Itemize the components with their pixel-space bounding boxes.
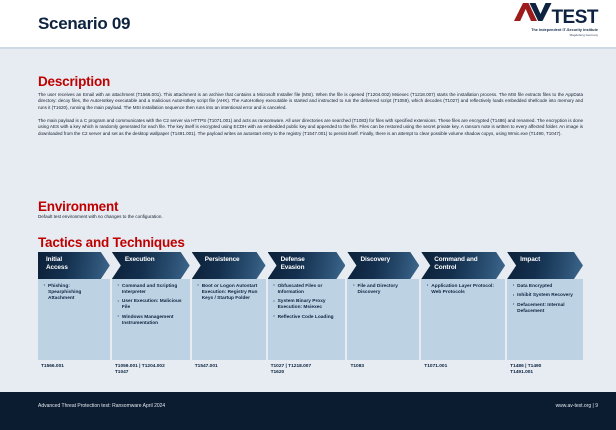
technique-list-item[interactable]: Defacement: Internal Defacement xyxy=(512,303,577,315)
tactic-header[interactable]: DefenseEvasion xyxy=(268,252,346,279)
description-paragraph-1: The user receives an Email with an attac… xyxy=(38,92,583,111)
tactics-techniques-table: InitialAccessPhishing: Spearphishing Att… xyxy=(38,252,583,382)
tactic-column: DefenseEvasionObfuscated Files or Inform… xyxy=(268,252,346,382)
report-page: Scenario 09 TEST The Independent IT-Secu… xyxy=(0,0,616,430)
technique-list-item[interactable]: Boot or Logon Autostart Execution: Regis… xyxy=(197,284,260,302)
technique-ids: T1071.001 xyxy=(421,360,505,382)
technique-list-cell: Data EncryptedInhibit System RecoveryDef… xyxy=(507,279,583,360)
technique-list-item[interactable]: User Execution: Malicious File xyxy=(117,299,184,311)
technique-list-item[interactable]: File and Directory Discovery xyxy=(352,284,413,296)
logo-subline: Magdeburg Germany xyxy=(490,33,598,37)
technique-list-cell: Command and Scripting InterpreterUser Ex… xyxy=(112,279,190,360)
technique-list-cell: Phishing: Spearphishing Attachment xyxy=(38,279,110,360)
page-header: Scenario 09 TEST The Independent IT-Secu… xyxy=(0,0,616,47)
tactic-column: DiscoveryFile and Directory DiscoveryT10… xyxy=(347,252,419,382)
tactic-column: ImpactData EncryptedInhibit System Recov… xyxy=(507,252,583,382)
technique-list-item[interactable]: Windows Management Instrumentation xyxy=(117,315,184,327)
tactic-header[interactable]: Impact xyxy=(507,252,583,279)
technique-ids: T1547.001 xyxy=(192,360,266,382)
tactic-header[interactable]: Execution xyxy=(112,252,190,279)
technique-ids: T1083 xyxy=(347,360,419,382)
tactic-header[interactable]: Persistence xyxy=(192,252,266,279)
tactic-column: ExecutionCommand and Scripting Interpret… xyxy=(112,252,190,382)
technique-list-cell: Boot or Logon Autostart Execution: Regis… xyxy=(192,279,266,360)
technique-list-cell: Application Layer Protocol: Web Protocol… xyxy=(421,279,505,360)
technique-list-cell: File and Directory Discovery xyxy=(347,279,419,360)
tactic-column: Command andControlApplication Layer Prot… xyxy=(421,252,505,382)
description-paragraph-2: The main payload is a C program and comm… xyxy=(38,118,583,137)
tactic-column: InitialAccessPhishing: Spearphishing Att… xyxy=(38,252,110,382)
av-chevron-mark-icon xyxy=(514,3,552,27)
technique-ids: T1059.001 | T1204.002T1047 xyxy=(112,360,190,382)
footer-url-page: www.av-test.org | 9 xyxy=(556,403,598,409)
content-panel: Description The user receives an Email w… xyxy=(0,47,616,392)
technique-list-item[interactable]: Reflective Code Loading xyxy=(273,315,340,321)
technique-list-item[interactable]: Application Layer Protocol: Web Protocol… xyxy=(426,284,499,296)
panel-top-rule xyxy=(0,47,616,49)
technique-list-item[interactable]: Inhibit System Recovery xyxy=(512,293,577,299)
footer-test-name: Advanced Threat Protection test: Ransomw… xyxy=(38,403,165,409)
technique-list-item[interactable]: System Binary Proxy Execution: Msiexec xyxy=(273,299,340,311)
tactic-header[interactable]: Command andControl xyxy=(421,252,505,279)
technique-list-item[interactable]: Command and Scripting Interpreter xyxy=(117,284,184,296)
tactics-heading: Tactics and Techniques xyxy=(38,235,185,250)
page-footer: Advanced Threat Protection test: Ransomw… xyxy=(0,392,616,430)
environment-heading: Environment xyxy=(38,199,118,214)
description-heading: Description xyxy=(38,74,110,89)
technique-ids: T1486 | T1490T1491.001 xyxy=(507,360,583,382)
environment-text: Default test environment with no changes… xyxy=(38,214,163,219)
technique-ids: T1027 | T1218.007T1620 xyxy=(268,360,346,382)
technique-ids: T1566.001 xyxy=(38,360,110,382)
technique-list-cell: Obfuscated Files or InformationSystem Bi… xyxy=(268,279,346,360)
logo-wordmark: TEST xyxy=(551,8,598,27)
tactic-header[interactable]: InitialAccess xyxy=(38,252,110,279)
page-title: Scenario 09 xyxy=(38,14,130,34)
tactic-column: PersistenceBoot or Logon Autostart Execu… xyxy=(192,252,266,382)
av-test-logo: TEST The Independent IT-Security Institu… xyxy=(490,8,598,38)
technique-list-item[interactable]: Obfuscated Files or Information xyxy=(273,284,340,296)
tactic-header[interactable]: Discovery xyxy=(347,252,419,279)
technique-list-item[interactable]: Phishing: Spearphishing Attachment xyxy=(43,284,104,302)
technique-list-item[interactable]: Data Encrypted xyxy=(512,284,577,290)
